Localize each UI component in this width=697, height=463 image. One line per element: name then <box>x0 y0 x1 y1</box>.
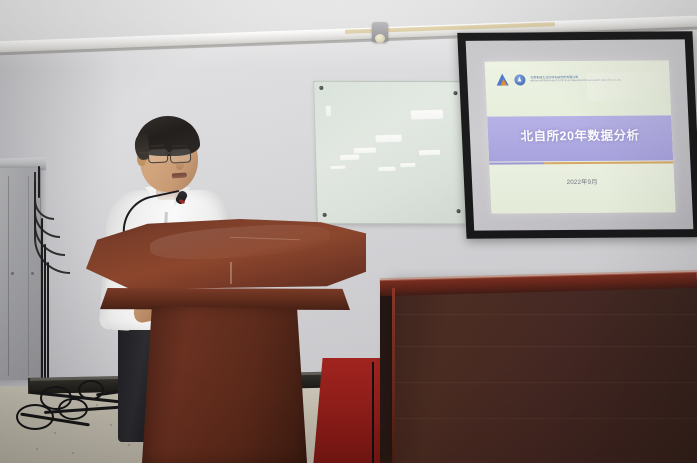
slide-title-text: 北自所20年数据分析 <box>487 124 672 144</box>
desk-wood-grain <box>393 418 697 419</box>
triangle-logo-icon <box>496 74 510 86</box>
floor-speck <box>54 432 56 434</box>
foreground-desk <box>393 284 697 463</box>
desk-corner-edge <box>392 288 395 463</box>
light-reflection-6 <box>378 167 395 172</box>
desk-wood-grain <box>393 346 697 347</box>
wall-cable-riser-1 <box>38 166 40 198</box>
light-reflection-8 <box>330 166 345 169</box>
slide-header-area <box>485 60 672 116</box>
whiteboard-screw-bl <box>323 213 327 217</box>
podium-base-molding <box>100 288 350 310</box>
speaker-nose <box>176 159 184 170</box>
slide-footer-area <box>489 165 675 214</box>
presentation-room-photo: 北京机械工业自动化研究所有限公司 BEIJING RESEARCH INSTIT… <box>0 0 697 463</box>
projection-screen-frame: 北京机械工业自动化研究所有限公司 BEIJING RESEARCH INSTIT… <box>457 31 697 238</box>
eyeglasses-lens-left <box>148 148 169 163</box>
logo-company-name-en: BEIJING RESEARCH INSTITUTE OF AUTOMATION… <box>530 80 621 83</box>
light-reflection-7 <box>400 163 415 167</box>
podium-panel-gap <box>230 262 232 284</box>
light-reflection-1 <box>411 110 444 120</box>
light-reflection-2 <box>375 135 401 143</box>
whiteboard-screw-tl <box>319 86 323 90</box>
wall-cable-riser-4 <box>47 262 49 390</box>
floor-speck <box>128 444 130 446</box>
desk-wood-grain <box>393 382 697 383</box>
slide-date-text: 2022年9月 <box>490 176 675 186</box>
speaker-mouth <box>172 172 187 178</box>
slide-logo-group: 北京机械工业自动化研究所有限公司 BEIJING RESEARCH INSTIT… <box>496 73 621 86</box>
cabinet-latch <box>11 272 14 275</box>
circle-logo-icon <box>514 74 526 85</box>
light-reflection-9 <box>326 106 331 116</box>
logo-text-block: 北京机械工业自动化研究所有限公司 BEIJING RESEARCH INSTIT… <box>530 76 621 83</box>
ceiling-mount-bracket <box>372 22 388 42</box>
light-reflection-4 <box>419 150 440 156</box>
carpet-cable <box>372 362 374 463</box>
light-reflection-3 <box>354 148 376 154</box>
divider-segment-left <box>489 163 544 165</box>
glass-whiteboard <box>313 81 467 224</box>
cabinet-latch-2 <box>31 272 34 275</box>
wall-cable-riser-2 <box>41 218 43 390</box>
whiteboard-screw-br <box>457 209 461 213</box>
light-reflection-5 <box>340 155 359 161</box>
cabinet-door-seam <box>8 176 9 376</box>
projection-screen-surface: 北京机械工业自动化研究所有限公司 BEIJING RESEARCH INSTIT… <box>466 39 694 230</box>
cabinet-door-seam-2 <box>28 176 29 376</box>
floor-speck <box>110 424 112 426</box>
eyeglasses-bridge <box>165 152 171 154</box>
floor-speck <box>36 448 38 450</box>
presentation-slide: 北京机械工业自动化研究所有限公司 BEIJING RESEARCH INSTIT… <box>485 60 676 213</box>
wall-cable-riser-3 <box>44 244 46 390</box>
floor-speck <box>96 404 98 406</box>
floor-speck <box>72 452 74 454</box>
podium-column <box>142 306 307 463</box>
whiteboard-screw-tr <box>453 91 457 95</box>
desk-wood-grain <box>393 314 697 315</box>
